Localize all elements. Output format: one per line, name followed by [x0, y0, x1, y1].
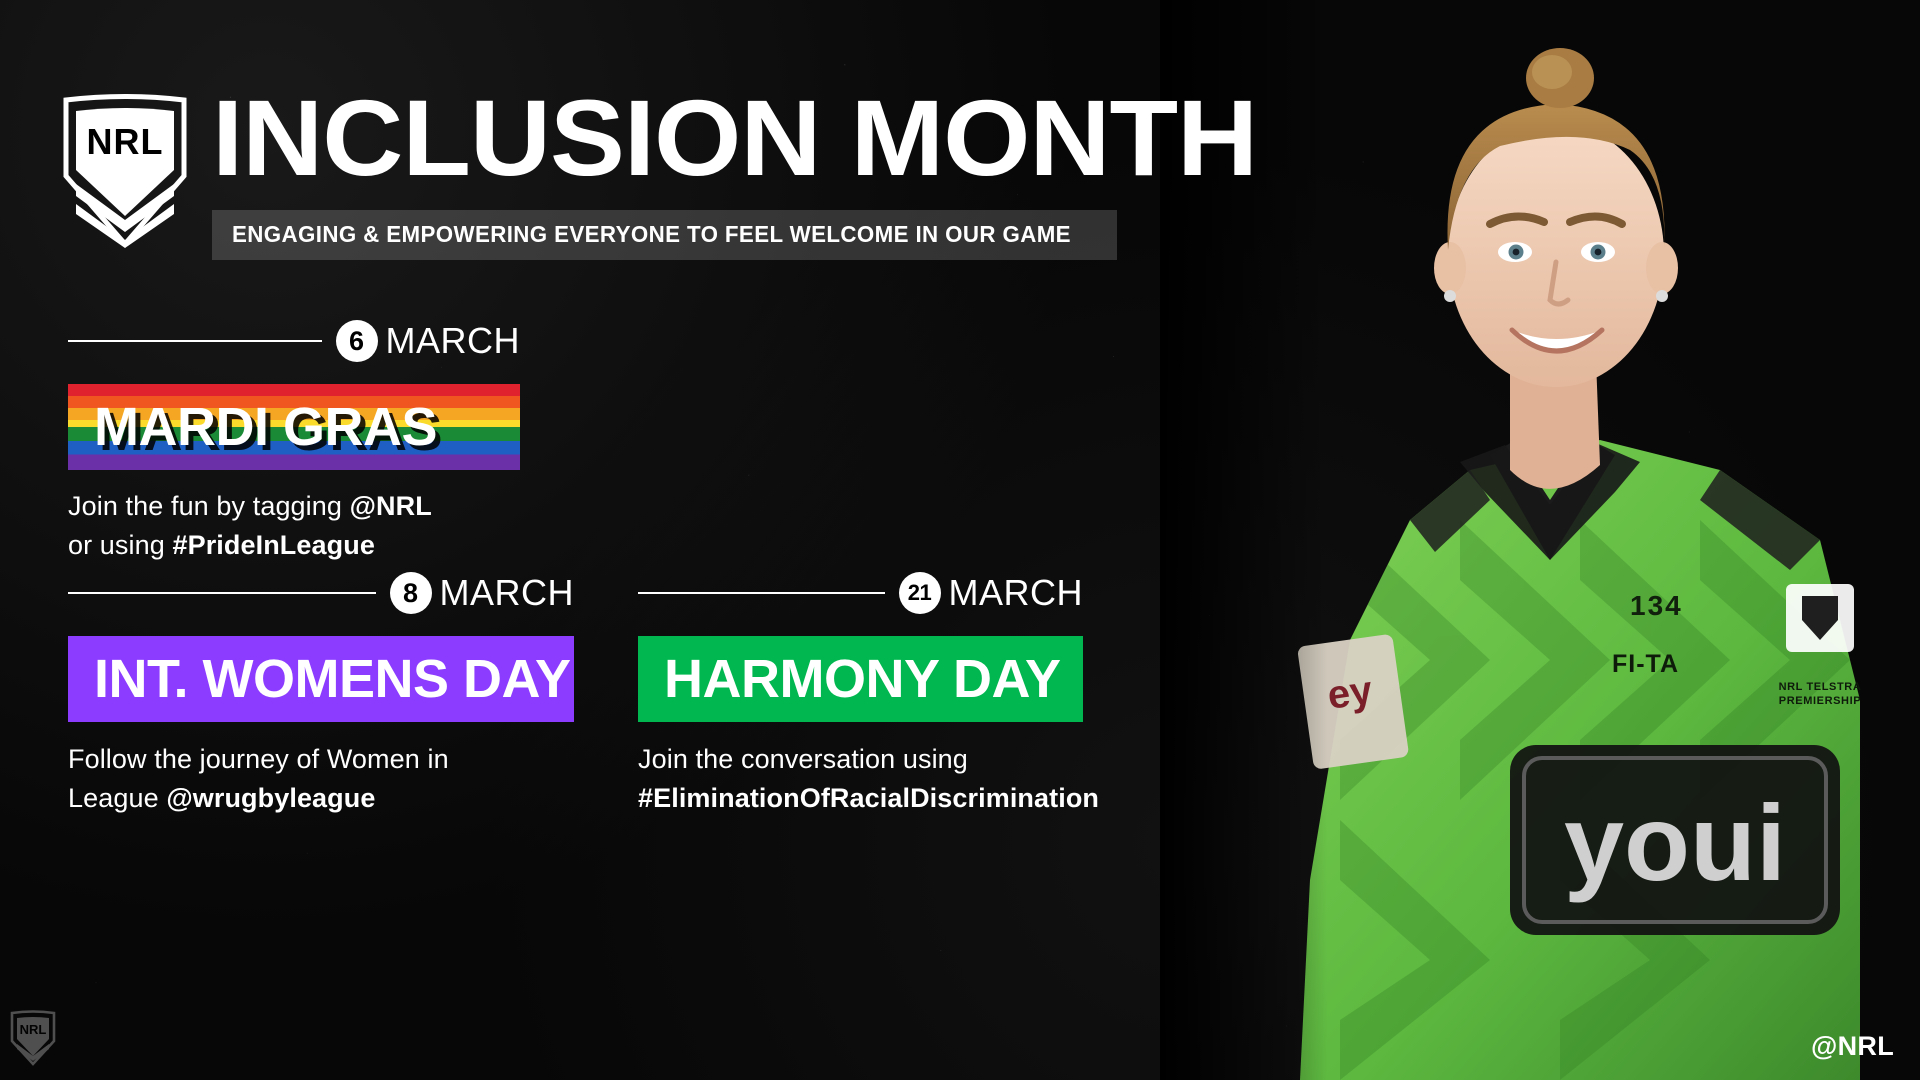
- copy-line-2: #EliminationOfRacialDiscrimination: [638, 779, 1158, 818]
- svg-text:FI-TA: FI-TA: [1612, 650, 1679, 678]
- svg-text:NRL: NRL: [20, 1022, 47, 1037]
- event-banner-harmony[interactable]: HARMONY DAY: [638, 636, 1083, 722]
- copy-line-2: or using #PrideInLeague: [68, 526, 588, 565]
- copy-text: League: [68, 783, 166, 813]
- nrl-shield-icon: NRL: [62, 92, 188, 248]
- date-header-iwd: 8 MARCH: [68, 572, 574, 614]
- date-day-badge: 8: [390, 572, 432, 614]
- poster-header: NRL INCLUSION MONTH ENGAGING & EMPOWERIN…: [62, 86, 1217, 260]
- copy-line-1: Join the conversation using: [638, 740, 1158, 779]
- event-harmony-day: 21 MARCH HARMONY DAY: [638, 572, 1083, 722]
- date-month-label: MARCH: [386, 320, 521, 362]
- copy-line-1: Join the fun by tagging @NRL: [68, 487, 588, 526]
- copy-text: Join the fun by tagging: [68, 491, 350, 521]
- event-copy-harmony: Join the conversation using #Elimination…: [638, 740, 1158, 818]
- referee-photo: 134 FI-TA NRL TELSTRA PREMIERSHIP youi e…: [1160, 0, 1920, 1080]
- copy-handle[interactable]: @NRL: [350, 491, 432, 521]
- date-month-label: MARCH: [949, 572, 1084, 614]
- date-header-harmony: 21 MARCH: [638, 572, 1083, 614]
- event-mardi-gras: 6 MARCH MARDI GRAS: [68, 320, 520, 470]
- date-rule: [68, 592, 376, 594]
- event-international-womens-day: 8 MARCH INT. WOMENS DAY: [68, 572, 574, 722]
- poster-canvas: 134 FI-TA NRL TELSTRA PREMIERSHIP youi e…: [0, 0, 1920, 1080]
- subtitle-text: ENGAGING & EMPOWERING EVERYONE TO FEEL W…: [232, 221, 1071, 248]
- subtitle-bar: ENGAGING & EMPOWERING EVERYONE TO FEEL W…: [212, 210, 1117, 260]
- nrl-shield-small-icon: NRL: [10, 1010, 56, 1066]
- svg-text:youi: youi: [1564, 782, 1786, 903]
- event-banner-iwd[interactable]: INT. WOMENS DAY: [68, 636, 574, 722]
- corner-handle: @NRL: [1811, 1031, 1894, 1062]
- date-day-badge: 6: [336, 320, 378, 362]
- copy-text: Join the conversation using: [638, 744, 968, 774]
- copy-line-1: Follow the journey of Women in: [68, 740, 538, 779]
- page-title: INCLUSION MONTH: [212, 86, 1257, 190]
- date-month-label: MARCH: [440, 572, 575, 614]
- copy-hashtag[interactable]: #EliminationOfRacialDiscrimination: [638, 783, 1099, 813]
- copy-hashtag[interactable]: #PrideInLeague: [172, 530, 374, 560]
- copy-line-2: League @wrugbyleague: [68, 779, 538, 818]
- event-banner-label: MARDI GRAS: [94, 400, 437, 454]
- date-rule: [68, 340, 322, 342]
- svg-text:134: 134: [1630, 590, 1683, 621]
- copy-handle[interactable]: @wrugbyleague: [166, 783, 375, 813]
- svg-text:ey: ey: [1325, 668, 1376, 718]
- event-banner-label: HARMONY DAY: [664, 652, 1061, 706]
- svg-text:NRL TELSTRA: NRL TELSTRA: [1779, 681, 1862, 693]
- date-header-mardi-gras: 6 MARCH: [68, 320, 520, 362]
- svg-text:PREMIERSHIP: PREMIERSHIP: [1779, 695, 1861, 707]
- date-rule: [638, 592, 885, 594]
- copy-text: or using: [68, 530, 172, 560]
- date-day-badge: 21: [899, 572, 941, 614]
- event-banner-mardi-gras[interactable]: MARDI GRAS: [68, 384, 520, 470]
- svg-text:NRL: NRL: [87, 121, 164, 162]
- copy-text: Follow the journey of Women in: [68, 744, 449, 774]
- event-copy-mardi-gras: Join the fun by tagging @NRL or using #P…: [68, 487, 588, 565]
- event-copy-iwd: Follow the journey of Women in League @w…: [68, 740, 538, 818]
- event-banner-label: INT. WOMENS DAY: [94, 652, 571, 706]
